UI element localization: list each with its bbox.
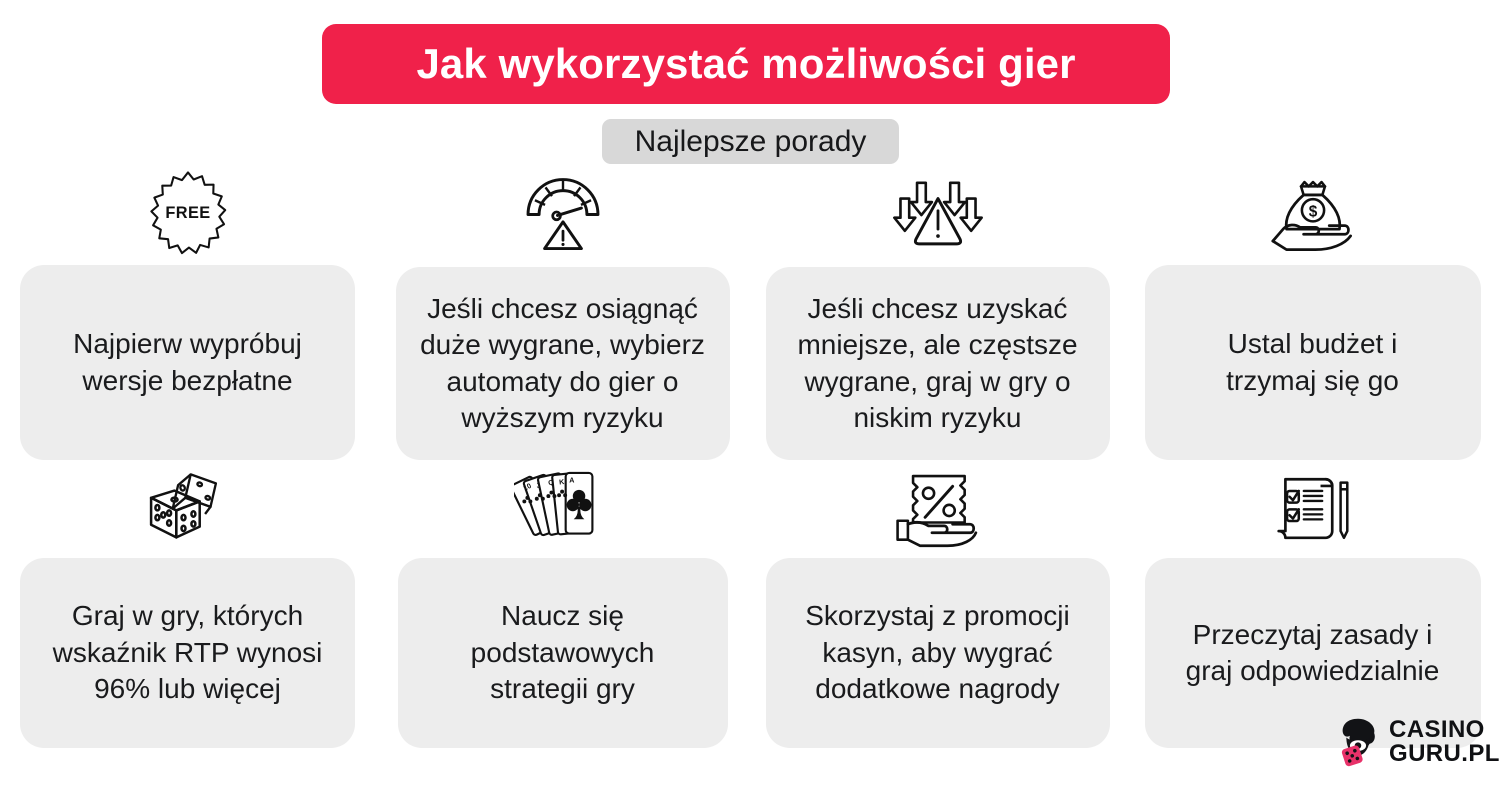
logo-line-2: GURU.PL (1389, 742, 1500, 766)
subtitle-chip: Najlepsze porady (602, 119, 899, 164)
tip-card-2-text: Jeśli chcesz osiągnąć duże wygrane, wybi… (420, 291, 705, 437)
svg-text:FREE: FREE (165, 204, 210, 222)
speedometer-warning-icon (375, 165, 750, 255)
warning-down-arrows-icon (750, 165, 1125, 255)
tip-card-3-body: Jeśli chcesz uzyskać mniejsze, ale częst… (766, 267, 1110, 460)
free-badge-icon: FREE (0, 165, 375, 255)
tip-card-3-text: Jeśli chcesz uzyskać mniejsze, ale częst… (797, 291, 1077, 437)
casino-guru-head-dice-icon (1335, 716, 1381, 768)
title-banner: Jak wykorzystać możliwości gier (322, 24, 1170, 104)
discount-voucher-hand-icon (750, 460, 1125, 550)
tip-card-7-text: Skorzystaj z promocji kasyn, aby wygrać … (805, 598, 1070, 707)
tip-card-1-body: Najpierw wypróbuj wersje bezpłatne (20, 265, 355, 460)
tip-card-4-body: Ustal budżet i trzymaj się go (1145, 265, 1481, 460)
money-bag-hand-icon: $ (1125, 165, 1500, 255)
page-title: Jak wykorzystać możliwości gier (416, 43, 1075, 85)
tip-card-6: 10 J Q K A (375, 460, 750, 760)
tip-card-1: FREE Najpierw wypróbuj wersje bezpłatne (0, 165, 375, 460)
playing-cards-icon: 10 J Q K A (375, 460, 750, 550)
tip-card-8: Przeczytaj zasady i graj odpowiedzialnie (1125, 460, 1500, 760)
tip-card-3: Jeśli chcesz uzyskać mniejsze, ale częst… (750, 165, 1125, 460)
tip-card-2: Jeśli chcesz osiągnąć duże wygrane, wybi… (375, 165, 750, 460)
logo-wordmark: CASINO GURU.PL (1389, 718, 1500, 766)
tip-card-7-body: Skorzystaj z promocji kasyn, aby wygrać … (766, 558, 1110, 748)
checklist-pencil-icon (1125, 460, 1500, 550)
tip-card-1-text: Najpierw wypróbuj wersje bezpłatne (73, 326, 302, 399)
tip-card-5: Graj w gry, których wskaźnik RTP wynosi … (0, 460, 375, 760)
casino-guru-logo[interactable]: CASINO GURU.PL (1335, 716, 1500, 768)
tip-card-4: $ Ustal budżet i trzymaj się go (1125, 165, 1500, 460)
logo-line-1: CASINO (1389, 718, 1500, 742)
tip-card-8-text: Przeczytaj zasady i graj odpowiedzialnie (1186, 617, 1440, 690)
subtitle-label: Najlepsze porady (635, 127, 867, 157)
tips-grid: FREE Najpierw wypróbuj wersje bezpłatne (0, 165, 1500, 760)
tip-card-5-body: Graj w gry, których wskaźnik RTP wynosi … (20, 558, 355, 748)
svg-text:A: A (569, 477, 574, 485)
tip-card-4-text: Ustal budżet i trzymaj się go (1226, 326, 1399, 399)
tip-card-2-body: Jeśli chcesz osiągnąć duże wygrane, wybi… (396, 267, 730, 460)
svg-text:$: $ (1308, 203, 1317, 220)
tips-row-1: FREE Najpierw wypróbuj wersje bezpłatne (0, 165, 1500, 460)
tip-card-6-body: Naucz się podstawowych strategii gry (398, 558, 728, 748)
dice-icon (0, 460, 375, 550)
infographic-page: Jak wykorzystać możliwości gier Najlepsz… (0, 0, 1500, 800)
tip-card-6-text: Naucz się podstawowych strategii gry (471, 598, 655, 707)
tips-row-2: Graj w gry, których wskaźnik RTP wynosi … (0, 460, 1500, 760)
tip-card-7: Skorzystaj z promocji kasyn, aby wygrać … (750, 460, 1125, 760)
tip-card-5-text: Graj w gry, których wskaźnik RTP wynosi … (53, 598, 323, 707)
